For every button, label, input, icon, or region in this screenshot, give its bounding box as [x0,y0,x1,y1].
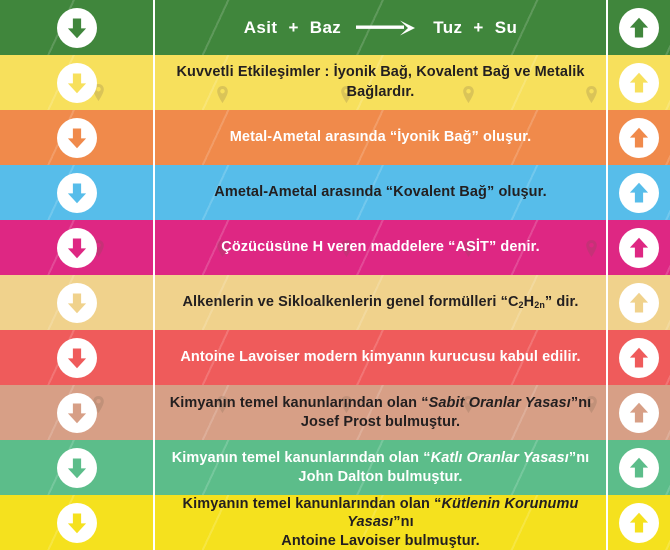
fact-text-cell: Kimyanın temel kanunlarından olan “Sabit… [155,385,606,440]
fact-line-1: Kuvvetli Etkileşimler : İyonik Bağ, Kova… [161,63,600,101]
scroll-up-cell[interactable] [606,275,670,330]
eq-reactant-2: Baz [310,18,341,38]
circle-down-arrow-icon [64,455,90,481]
eq-plus-1: + [288,18,298,38]
fact-line-1-formula: Alkenlerin ve Sikloalkenlerin genel form… [182,293,578,312]
circle-down-arrow-badge[interactable] [57,393,97,433]
scroll-up-cell[interactable] [606,165,670,220]
neutralization-equation: Asit + Baz Tuz + Su [244,18,518,38]
law-line-prefix: Kimyanın temel kanunlarından olan “ [170,395,429,411]
scroll-down-cell[interactable] [0,440,155,495]
scroll-up-cell[interactable] [606,55,670,110]
scroll-down-cell[interactable] [0,110,155,165]
scroll-down-cell[interactable] [0,275,155,330]
scroll-up-cell[interactable] [606,220,670,275]
poster-row-8: Kimyanın temel kanunlarından olan “Katlı… [0,440,670,495]
circle-down-arrow-icon [64,70,90,96]
poster-row-6: Antoine Lavoiser modern kimyanın kurucus… [0,330,670,385]
circle-down-arrow-icon [64,235,90,261]
circle-down-arrow-icon [64,290,90,316]
poster-row-3: Ametal-Ametal arasında “Kovalent Bağ” ol… [0,165,670,220]
scroll-down-cell[interactable] [0,220,155,275]
law-line-prefix: Kimyanın temel kanunlarından olan “ [183,496,442,512]
circle-up-arrow-icon [626,15,652,41]
circle-down-arrow-badge[interactable] [57,118,97,158]
formula-suffix: ” dir. [545,294,579,310]
circle-down-arrow-icon [64,400,90,426]
circle-up-arrow-icon [626,455,652,481]
discoverer-line: John Dalton bulmuştur. [298,469,462,485]
scroll-up-cell[interactable] [606,495,670,550]
formula-mid: H [524,294,535,310]
formula-sub-2: 2n [534,300,545,310]
circle-up-arrow-icon [626,180,652,206]
fact-two-line-block: Kimyanın temel kanunlarından olan “Sabit… [170,394,592,431]
poster-row-4: Çözücüsüne H veren maddelere “ASİT” deni… [0,220,670,275]
eq-product-1: Tuz [433,18,462,38]
circle-down-arrow-badge[interactable] [57,228,97,268]
chemistry-facts-poster: Asit + Baz Tuz + Su [0,0,670,550]
circle-up-arrow-badge[interactable] [619,63,659,103]
circle-up-arrow-badge[interactable] [619,228,659,268]
circle-up-arrow-badge[interactable] [619,338,659,378]
poster-row-2: Metal-Ametal arasında “İyonik Bağ” oluşu… [0,110,670,165]
poster-row-7: Kimyanın temel kanunlarından olan “Sabit… [0,385,670,440]
eq-product-2: Su [495,18,518,38]
circle-up-arrow-badge[interactable] [619,118,659,158]
fact-line-1: Metal-Ametal arasında “İyonik Bağ” oluşu… [230,128,532,147]
fact-text-cell: Ametal-Ametal arasında “Kovalent Bağ” ol… [155,165,606,220]
reaction-arrow-icon [356,20,418,36]
law-name-italic: Sabit Oranlar Yasası [429,395,571,411]
scroll-up-cell[interactable] [606,440,670,495]
circle-down-arrow-badge[interactable] [57,8,97,48]
fact-text-cell: Çözücüsüne H veren maddelere “ASİT” deni… [155,220,606,275]
circle-up-arrow-badge[interactable] [619,8,659,48]
circle-down-arrow-badge[interactable] [57,63,97,103]
poster-row-header: Asit + Baz Tuz + Su [0,0,670,55]
circle-up-arrow-icon [626,125,652,151]
circle-up-arrow-icon [626,70,652,96]
circle-up-arrow-icon [626,400,652,426]
fact-line-1: Antoine Lavoiser modern kimyanın kurucus… [180,348,580,367]
circle-up-arrow-icon [626,290,652,316]
circle-down-arrow-badge[interactable] [57,448,97,488]
circle-up-arrow-icon [626,235,652,261]
poster-row-5: Alkenlerin ve Sikloalkenlerin genel form… [0,275,670,330]
scroll-up-cell[interactable] [606,385,670,440]
discoverer-line: Josef Prost bulmuştur. [301,414,460,430]
fact-text-cell: Kimyanın temel kanunlarından olan “Katlı… [155,440,606,495]
scroll-down-cell[interactable] [0,385,155,440]
law-line-suffix: ”nı [393,514,413,530]
circle-up-arrow-badge[interactable] [619,393,659,433]
circle-down-arrow-icon [64,180,90,206]
law-name-italic: Katlı Oranlar Yasası [431,450,569,466]
fact-text-cell: Kimyanın temel kanunlarından olan “Kütle… [155,495,606,550]
circle-down-arrow-badge[interactable] [57,173,97,213]
circle-down-arrow-icon [64,345,90,371]
scroll-up-cell[interactable] [606,0,670,55]
law-line-suffix: ”nı [571,395,591,411]
scroll-down-cell[interactable] [0,495,155,550]
circle-down-arrow-badge[interactable] [57,338,97,378]
fact-two-line-block: Kimyanın temel kanunlarından olan “Kütle… [161,495,600,550]
circle-up-arrow-icon [626,510,652,536]
scroll-down-cell[interactable] [0,330,155,385]
scroll-down-cell[interactable] [0,0,155,55]
discoverer-line: Antoine Lavoiser bulmuştur. [281,533,479,549]
eq-reactant-1: Asit [244,18,278,38]
circle-down-arrow-badge[interactable] [57,503,97,543]
fact-line-1: Ametal-Ametal arasında “Kovalent Bağ” ol… [214,183,546,202]
scroll-down-cell[interactable] [0,55,155,110]
circle-up-arrow-badge[interactable] [619,503,659,543]
circle-down-arrow-icon [64,15,90,41]
circle-up-arrow-badge[interactable] [619,173,659,213]
scroll-up-cell[interactable] [606,330,670,385]
law-line-suffix: ”nı [569,450,589,466]
eq-plus-2: + [473,18,483,38]
circle-up-arrow-badge[interactable] [619,448,659,488]
fact-text-cell: Antoine Lavoiser modern kimyanın kurucus… [155,330,606,385]
fact-line-1: Çözücüsüne H veren maddelere “ASİT” deni… [221,238,539,257]
fact-text-cell: Alkenlerin ve Sikloalkenlerin genel form… [155,275,606,330]
scroll-down-cell[interactable] [0,165,155,220]
law-line-prefix: Kimyanın temel kanunlarından olan “ [172,450,431,466]
circle-down-arrow-badge[interactable] [57,283,97,323]
fact-text-cell: Kuvvetli Etkileşimler : İyonik Bağ, Kova… [155,55,606,110]
circle-up-arrow-icon [626,345,652,371]
circle-down-arrow-icon [64,125,90,151]
header-equation-cell: Asit + Baz Tuz + Su [155,0,606,55]
scroll-up-cell[interactable] [606,110,670,165]
poster-row-9: Kimyanın temel kanunlarından olan “Kütle… [0,495,670,550]
fact-two-line-block: Kimyanın temel kanunlarından olan “Katlı… [172,449,590,486]
circle-down-arrow-icon [64,510,90,536]
formula-prefix: Alkenlerin ve Sikloalkenlerin genel form… [182,294,518,310]
poster-row-1: Kuvvetli Etkileşimler : İyonik Bağ, Kova… [0,55,670,110]
fact-text-cell: Metal-Ametal arasında “İyonik Bağ” oluşu… [155,110,606,165]
circle-up-arrow-badge[interactable] [619,283,659,323]
